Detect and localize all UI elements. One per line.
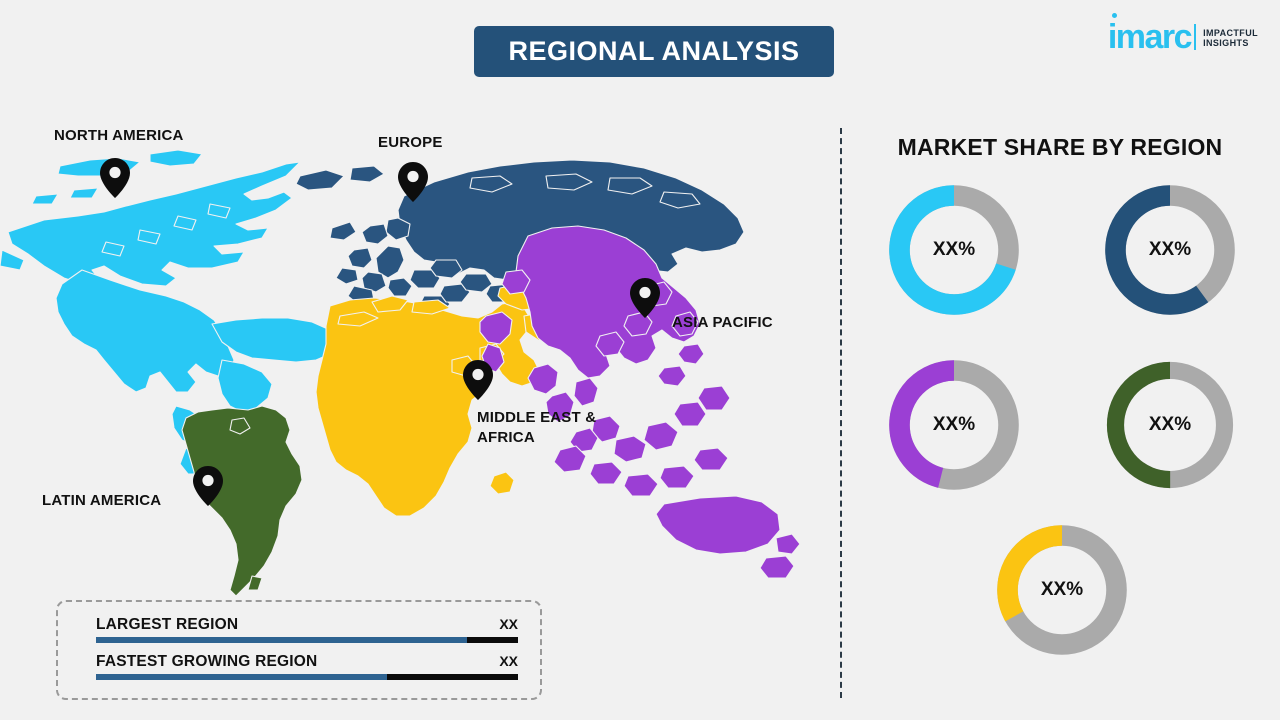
donut-value: XX% <box>990 518 1134 662</box>
map-label-middle-east-africa: MIDDLE EAST & AFRICA <box>477 408 637 449</box>
logo-separator-icon <box>1194 24 1196 50</box>
logo-tagline-line1: IMPACTFUL <box>1203 28 1258 38</box>
donut-value: XX% <box>882 353 1026 497</box>
donut-latin-america[interactable]: XX% <box>1098 353 1242 497</box>
donut-north-america[interactable]: XX% <box>882 178 1026 322</box>
donut-value: XX% <box>882 178 1026 322</box>
map-pin-middle-east-africa[interactable] <box>463 360 493 400</box>
map-pin-europe[interactable] <box>398 162 428 202</box>
page-title-banner: REGIONAL ANALYSIS <box>474 26 834 77</box>
donut-value: XX% <box>1098 353 1242 497</box>
legend-box: LARGEST REGION XX FASTEST GROWING REGION… <box>56 600 542 700</box>
logo-dot-icon <box>1112 13 1117 18</box>
legend-bar-track <box>96 637 518 643</box>
logo-tagline: IMPACTFUL INSIGHTS <box>1203 28 1258 49</box>
legend-label: LARGEST REGION <box>96 616 238 634</box>
map-label-north-america: NORTH AMERICA <box>54 126 184 146</box>
page-title: REGIONAL ANALYSIS <box>508 36 799 67</box>
legend-value: XX <box>499 653 518 669</box>
logo-wordmark-text: imarc <box>1108 18 1191 56</box>
logo-wordmark: imarc <box>1108 22 1191 53</box>
map-label-latin-america: LATIN AMERICA <box>42 491 161 511</box>
donut-value: XX% <box>1098 178 1242 322</box>
donut-middle-east-africa[interactable]: XX% <box>990 518 1134 662</box>
donut-asia-pacific[interactable]: XX% <box>882 353 1026 497</box>
infographic-page: REGIONAL ANALYSIS imarc IMPACTFUL INSIGH… <box>0 0 1280 720</box>
map-label-europe: EUROPE <box>378 133 443 153</box>
map-label-asia-pacific: ASIA PACIFIC <box>672 313 773 333</box>
map-pin-latin-america[interactable] <box>193 466 223 506</box>
legend-bar-fill <box>96 674 387 680</box>
legend-label: FASTEST GROWING REGION <box>96 653 317 671</box>
section-divider <box>840 128 842 698</box>
map-pin-asia-pacific[interactable] <box>630 278 660 318</box>
market-share-title: MARKET SHARE BY REGION <box>890 134 1230 161</box>
legend-bar-fill <box>96 637 467 643</box>
map-pin-north-america[interactable] <box>100 158 130 198</box>
map-region-middle-east-africa <box>316 284 566 516</box>
brand-logo: imarc IMPACTFUL INSIGHTS <box>1108 22 1258 53</box>
logo-tagline-line2: INSIGHTS <box>1203 38 1258 48</box>
legend-value: XX <box>499 616 518 632</box>
legend-row-largest-region: LARGEST REGION XX <box>96 616 518 643</box>
donut-europe[interactable]: XX% <box>1098 178 1242 322</box>
legend-bar-track <box>96 674 518 680</box>
legend-row-fastest-growing-region: FASTEST GROWING REGION XX <box>96 653 518 680</box>
market-share-donuts: XX% XX% XX% XX% XX% <box>862 178 1262 678</box>
